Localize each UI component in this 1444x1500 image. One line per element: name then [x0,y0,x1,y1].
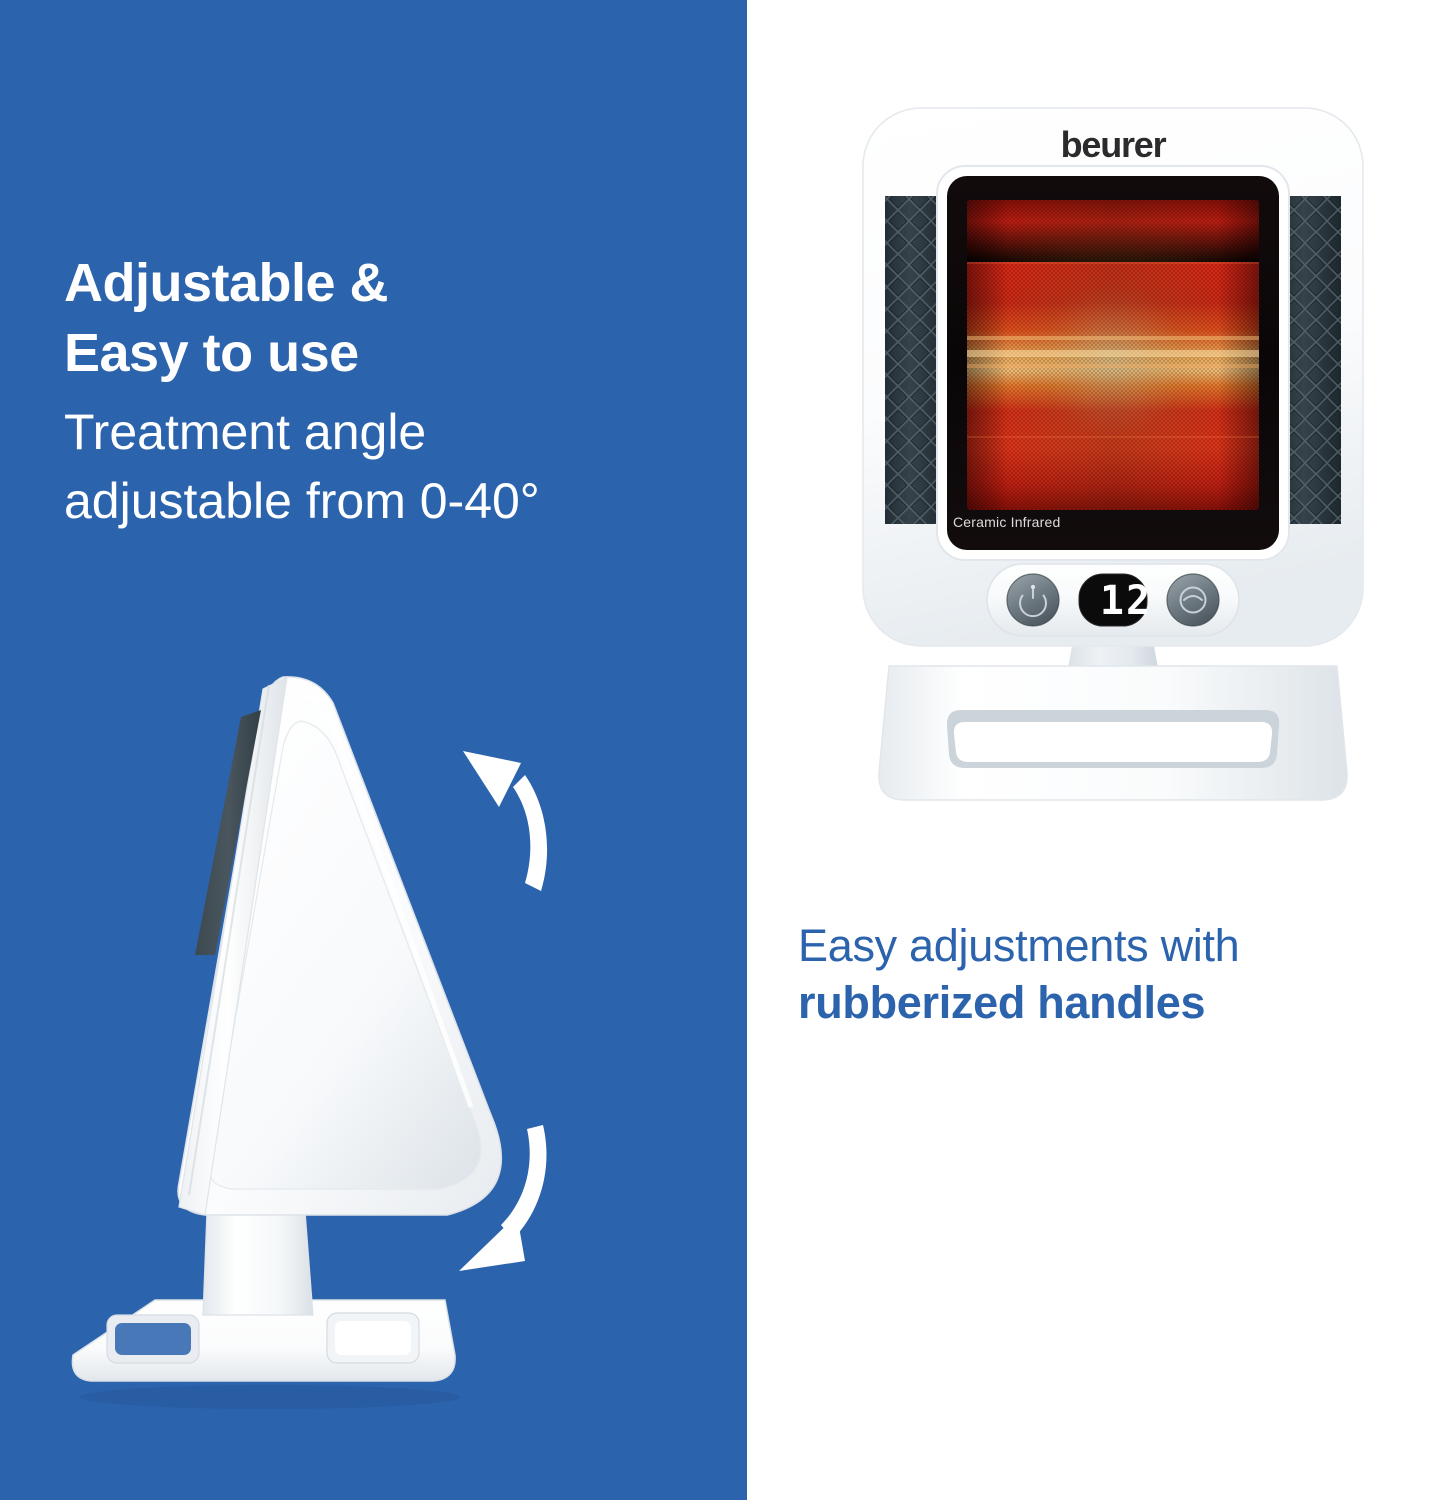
stand-neck [203,1211,313,1315]
product-sideview-illustration [55,655,555,1415]
headline-line-2: Easy to use [64,318,704,388]
product-frontview-illustration [843,100,1383,825]
stand-assembly [879,630,1347,800]
infrared-element [967,200,1259,510]
lamp-head-sideview [178,677,501,1215]
subheadline-line-1: Treatment angle [64,398,724,467]
brand-logo: beurer [843,124,1383,166]
rotation-arrow-up-icon [463,751,547,891]
product-feature-page: Adjustable & Easy to use Treatment angle… [0,0,1444,1500]
left-blue-panel: Adjustable & Easy to use Treatment angle… [0,0,747,1500]
display-value: 12 [1093,578,1159,624]
right-caption: Easy adjustments with rubberized handles [798,918,1444,1031]
subheadline-line-2: adjustable from 0-40° [64,467,724,536]
caption-line-2: rubberized handles [798,975,1444,1032]
headline-line-1: Adjustable & [64,248,704,318]
headline: Adjustable & Easy to use [64,248,704,388]
base-shadow [80,1385,460,1409]
timer-button [1167,574,1219,626]
subheadline: Treatment angle adjustable from 0-40° [64,398,724,536]
power-button [1007,574,1059,626]
caption-line-1: Easy adjustments with [798,918,1444,975]
element-type-label: Ceramic Infrared [953,514,1060,530]
